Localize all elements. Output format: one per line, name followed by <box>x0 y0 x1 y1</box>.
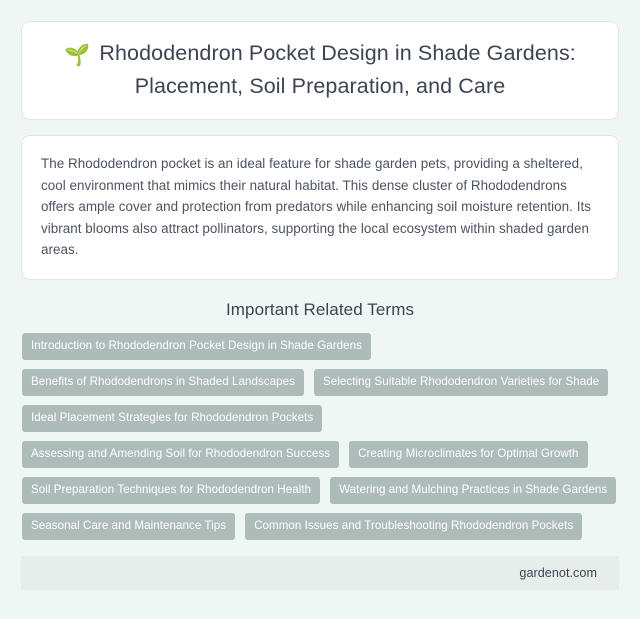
related-term-tag[interactable]: Benefits of Rhododendrons in Shaded Land… <box>22 369 304 396</box>
related-terms-heading: Important Related Terms <box>21 299 619 321</box>
page-root: 🌱Rhododendron Pocket Design in Shade Gar… <box>0 0 640 619</box>
related-terms-list: Introduction to Rhododendron Pocket Desi… <box>21 333 619 540</box>
related-term-tag[interactable]: Creating Microclimates for Optimal Growt… <box>349 441 587 468</box>
footer-site-label: gardenot.com <box>519 566 597 580</box>
footer-bar: gardenot.com <box>21 556 619 590</box>
page-title-text: Rhododendron Pocket Design in Shade Gard… <box>99 41 576 98</box>
seedling-icon: 🌱 <box>64 41 90 71</box>
layout-spacer <box>21 540 619 557</box>
related-term-tag[interactable]: Seasonal Care and Maintenance Tips <box>22 513 235 540</box>
related-term-tag[interactable]: Ideal Placement Strategies for Rhododend… <box>22 405 322 432</box>
related-term-tag[interactable]: Watering and Mulching Practices in Shade… <box>330 477 616 504</box>
related-term-tag[interactable]: Common Issues and Troubleshooting Rhodod… <box>245 513 582 540</box>
related-term-tag[interactable]: Assessing and Amending Soil for Rhododen… <box>22 441 339 468</box>
description-text: The Rhododendron pocket is an ideal feat… <box>41 153 599 261</box>
page-title: 🌱Rhododendron Pocket Design in Shade Gar… <box>48 38 592 101</box>
related-term-tag[interactable]: Introduction to Rhododendron Pocket Desi… <box>22 333 371 360</box>
related-term-tag[interactable]: Soil Preparation Techniques for Rhododen… <box>22 477 320 504</box>
related-term-tag[interactable]: Selecting Suitable Rhododendron Varietie… <box>314 369 608 396</box>
title-card: 🌱Rhododendron Pocket Design in Shade Gar… <box>21 21 619 120</box>
description-card: The Rhododendron pocket is an ideal feat… <box>21 135 619 280</box>
